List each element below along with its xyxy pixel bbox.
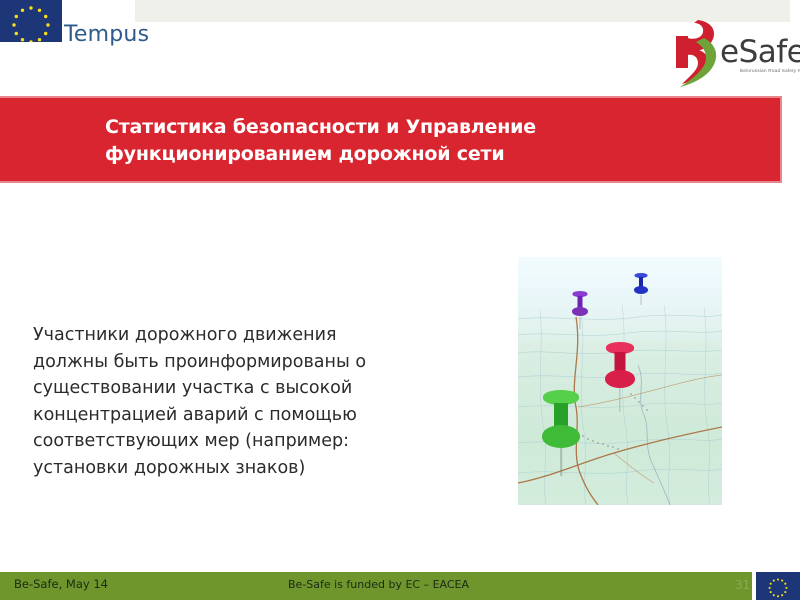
body-line: концентрацией аварий с помощью bbox=[33, 402, 428, 429]
slide-title-line-2: функционированием дорожной сети bbox=[105, 141, 745, 168]
body-line: должны быть проинформированы о bbox=[33, 349, 428, 376]
pin-blue bbox=[632, 273, 650, 303]
body-line: установки дорожных знаков) bbox=[33, 455, 428, 482]
footer-page-number: 31 bbox=[735, 578, 750, 592]
slide-body-text: Участники дорожного движения должны быть… bbox=[33, 322, 428, 482]
slide-title-line-1: Статистика безопасности и Управление bbox=[105, 114, 745, 141]
pin-red bbox=[603, 342, 637, 404]
pin-purple bbox=[570, 291, 590, 325]
eu-stars-footer-icon bbox=[756, 572, 800, 600]
eu-stars-icon bbox=[0, 0, 62, 42]
eu-flag-icon bbox=[0, 0, 62, 42]
tempus-programme-label: Tempus bbox=[64, 22, 149, 47]
slide-title-banner: Статистика безопасности и Управление фун… bbox=[0, 96, 782, 183]
slide-title: Статистика безопасности и Управление фун… bbox=[105, 114, 745, 168]
body-line: соответствующих мер (например: bbox=[33, 428, 428, 455]
eu-flag-footer-icon bbox=[756, 572, 800, 600]
map-figure-with-pins bbox=[518, 257, 722, 505]
besafe-tagline: Belorussian Road Safety Network bbox=[740, 68, 800, 73]
footer-left-text: Be-Safe, May 14 bbox=[14, 577, 108, 591]
body-line: Участники дорожного движения bbox=[33, 322, 428, 349]
body-line: существовании участка с высокой bbox=[33, 375, 428, 402]
besafe-logo: eSafe Belorussian Road Safety Network bbox=[668, 18, 794, 90]
pin-green bbox=[540, 390, 582, 466]
besafe-wordmark: eSafe bbox=[720, 34, 800, 70]
besafe-ribbon-icon bbox=[668, 18, 724, 88]
footer-center-text: Be-Safe is funded by EC – EACEA bbox=[288, 578, 469, 591]
